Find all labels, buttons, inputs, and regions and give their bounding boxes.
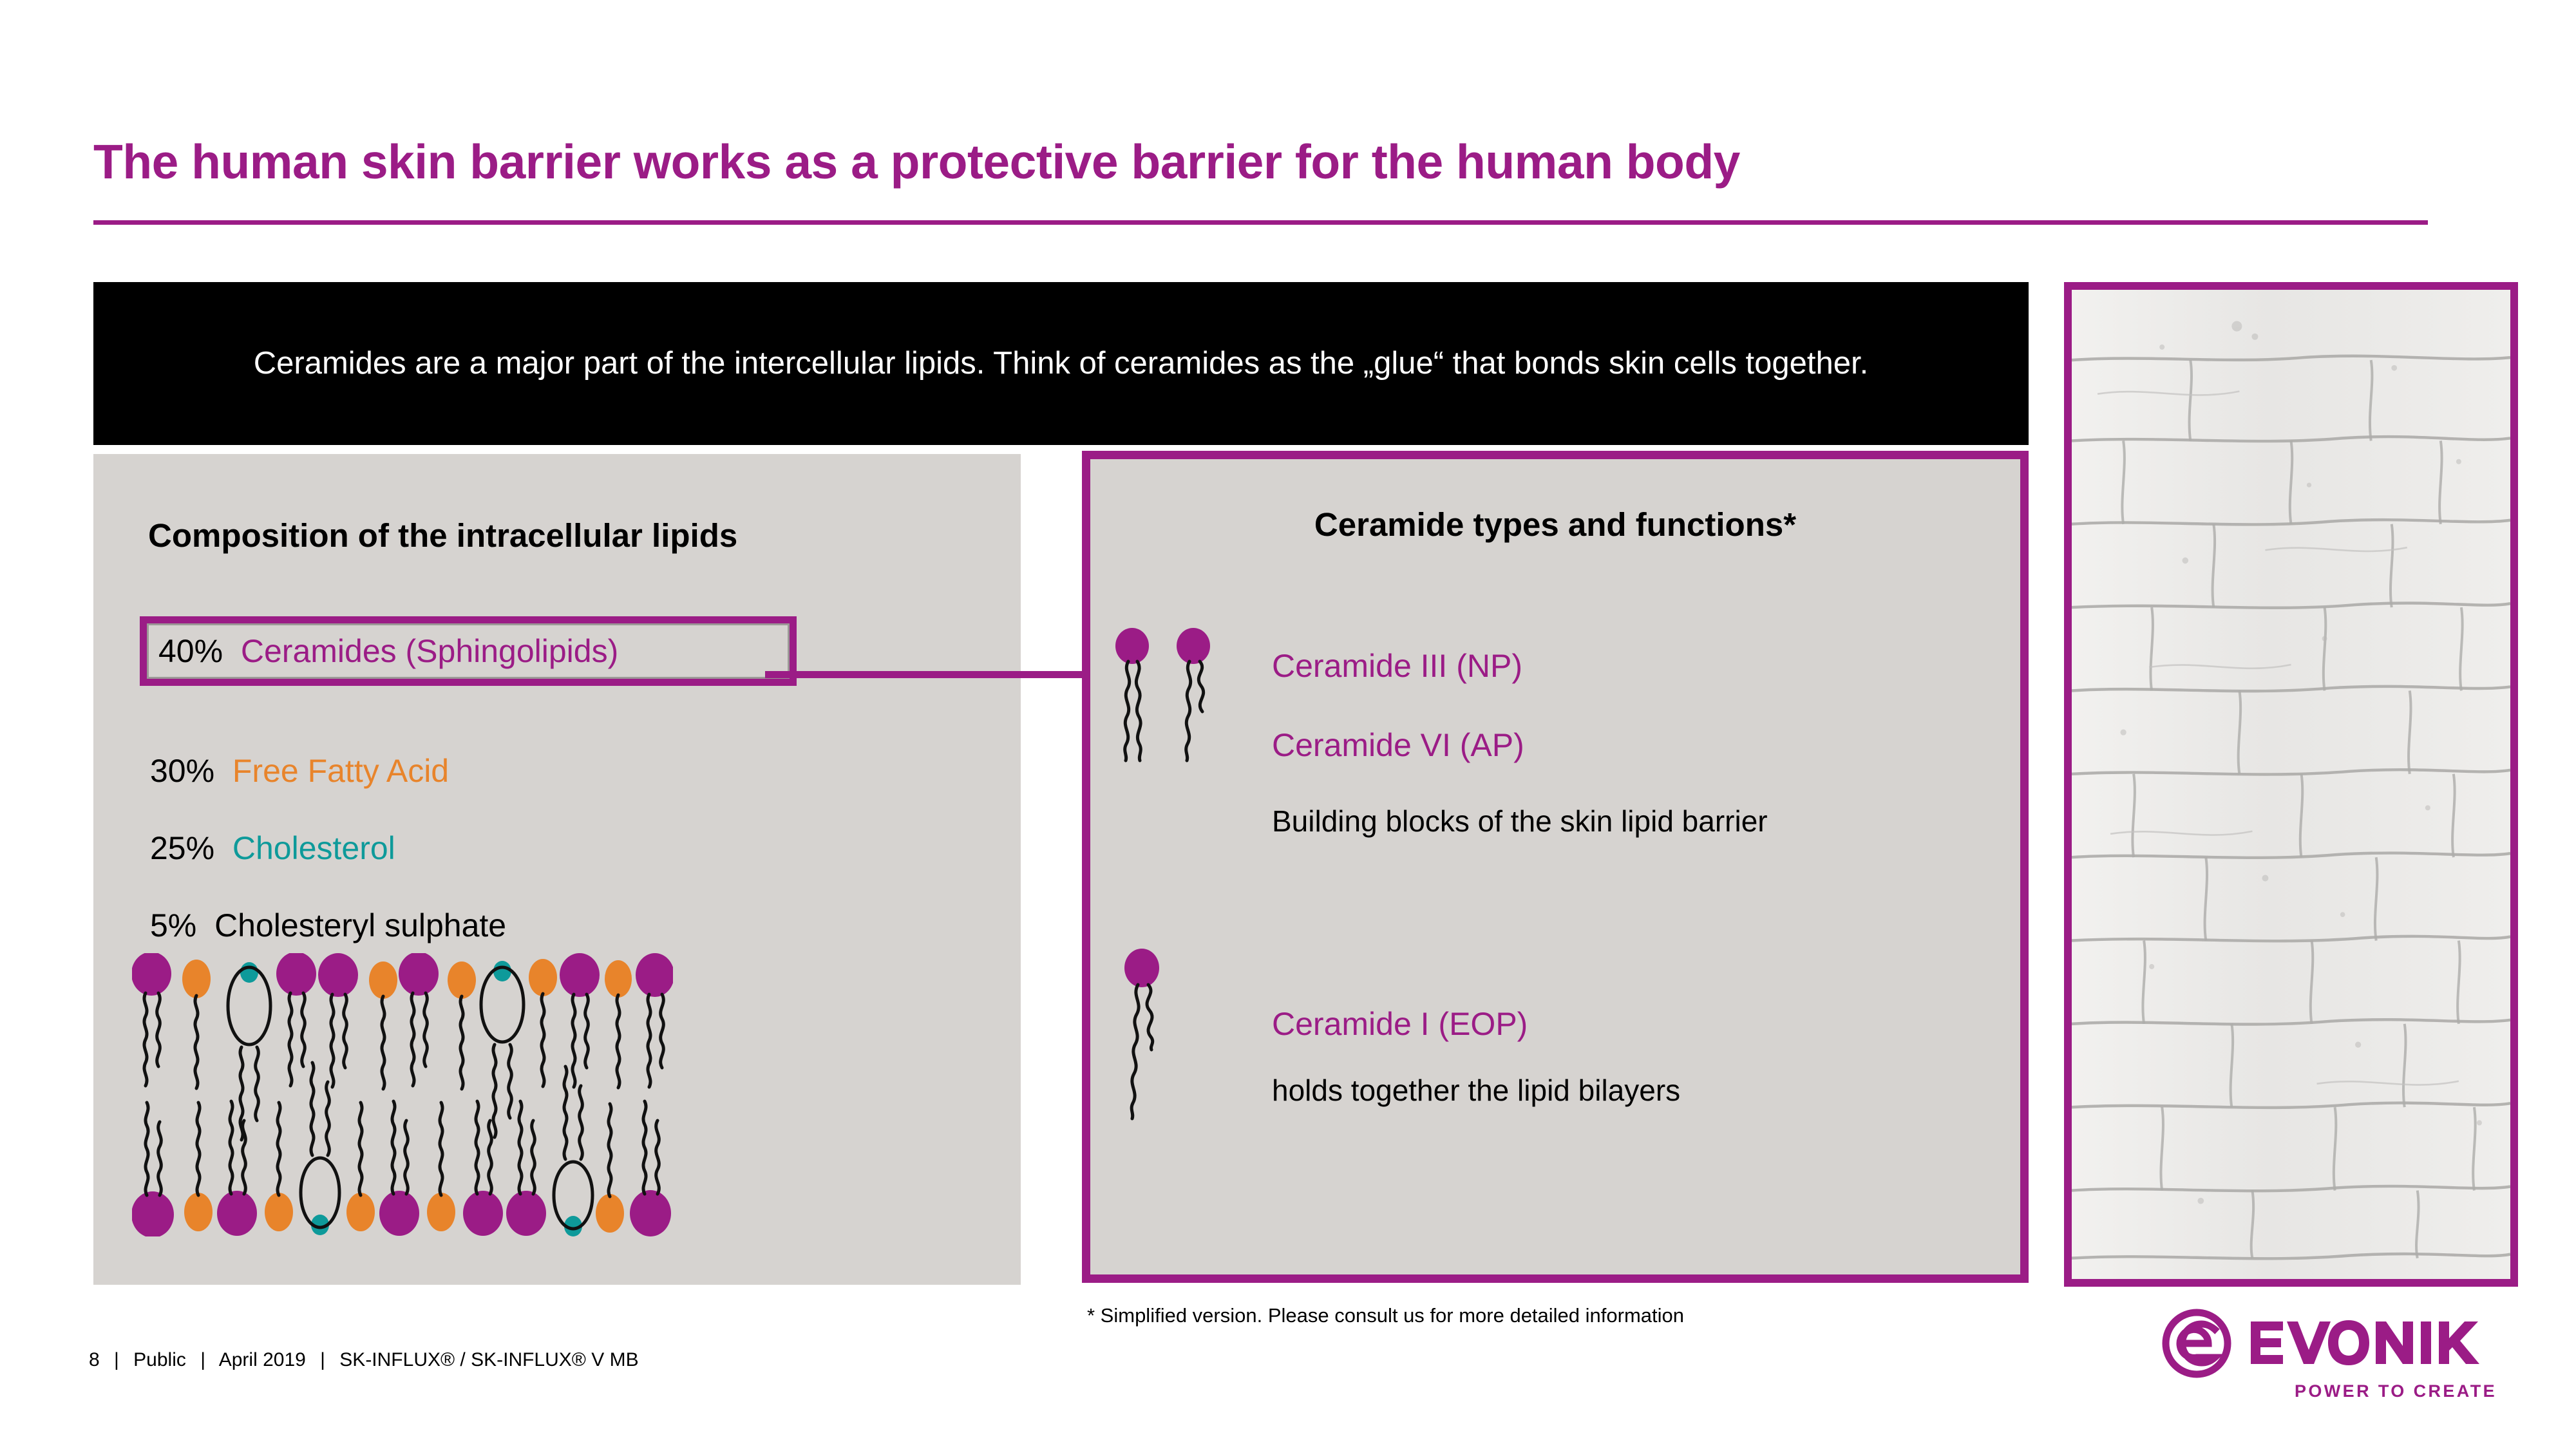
lipid-row-cholesteryl-sulphate: 5% Cholesteryl sulphate — [150, 907, 506, 944]
evonik-logo: POWER TO CREATE — [2161, 1307, 2502, 1404]
connector-line — [765, 671, 1082, 678]
ceramide-label-eop: Ceramide I (EOP) — [1272, 1005, 1528, 1043]
lipid-name: Cholesteryl sulphate — [214, 907, 506, 943]
lipid-row-cholesterol: 25% Cholesterol — [150, 829, 395, 867]
evonik-e-icon — [2166, 1312, 2228, 1374]
ceramide-label-ap: Ceramide VI (AP) — [1272, 726, 1524, 764]
footer-date: April 2019 — [219, 1349, 306, 1370]
lipid-bilayer-diagram — [132, 953, 673, 1236]
lipid-percent: 40% — [158, 633, 232, 669]
evonik-wordmark — [2161, 1307, 2502, 1385]
ceramide-types-heading: Ceramide types and functions* — [1090, 506, 2020, 544]
footer-page-number: 8 — [89, 1349, 100, 1370]
ceramide-long-tail-icon — [1104, 949, 1201, 1129]
evonik-tagline: POWER TO CREATE — [2295, 1381, 2497, 1401]
ceramide-description-building-blocks: Building blocks of the skin lipid barrie… — [1272, 804, 1768, 838]
banner-text: Ceramides are a major part of the interc… — [134, 343, 1989, 384]
evonik-letters — [2251, 1320, 2479, 1365]
footer: 8 | Public | April 2019 | SK-INFLUX® / S… — [89, 1349, 639, 1371]
lipid-row-free-fatty-acid: 30% Free Fatty Acid — [150, 752, 449, 790]
bilayer-bottom-leaflet — [132, 1063, 671, 1236]
footnote: * Simplified version. Please consult us … — [1087, 1304, 1684, 1327]
title-underline — [93, 220, 2428, 225]
footer-classification: Public — [133, 1349, 186, 1370]
ceramide-types-panel: Ceramide types and functions* Ceramide I… — [1082, 451, 2029, 1283]
ceramide-double-tail-icon — [1097, 628, 1238, 795]
footer-separator: | — [311, 1349, 334, 1370]
lipid-name: Cholesterol — [232, 830, 395, 866]
lipid-percent: 30% — [150, 753, 223, 789]
ceramide-highlight-box[interactable]: 40% Ceramides (Sphingolipids) — [140, 616, 797, 686]
lipid-row-ceramides: 40% Ceramides (Sphingolipids) — [158, 632, 618, 670]
page-title: The human skin barrier works as a protec… — [93, 134, 2425, 189]
white-brick-wall-photo — [2072, 290, 2510, 1279]
footer-document: SK-INFLUX® / SK-INFLUX® V MB — [339, 1349, 638, 1370]
composition-heading: Composition of the intracellular lipids — [148, 515, 857, 556]
highlight-banner: Ceramides are a major part of the interc… — [93, 282, 2029, 445]
lipid-percent: 5% — [150, 907, 205, 943]
footer-separator: | — [191, 1349, 214, 1370]
footer-separator: | — [105, 1349, 128, 1370]
lipid-percent: 25% — [150, 830, 223, 866]
ceramide-description-holds-bilayers: holds together the lipid bilayers — [1272, 1073, 1680, 1108]
bilayer-top-leaflet — [132, 953, 673, 1140]
lipid-name: Ceramides (Sphingolipids) — [241, 633, 618, 669]
lipid-name: Free Fatty Acid — [232, 753, 449, 789]
ceramide-label-np: Ceramide III (NP) — [1272, 647, 1522, 685]
brick-wall-frame — [2064, 282, 2518, 1287]
